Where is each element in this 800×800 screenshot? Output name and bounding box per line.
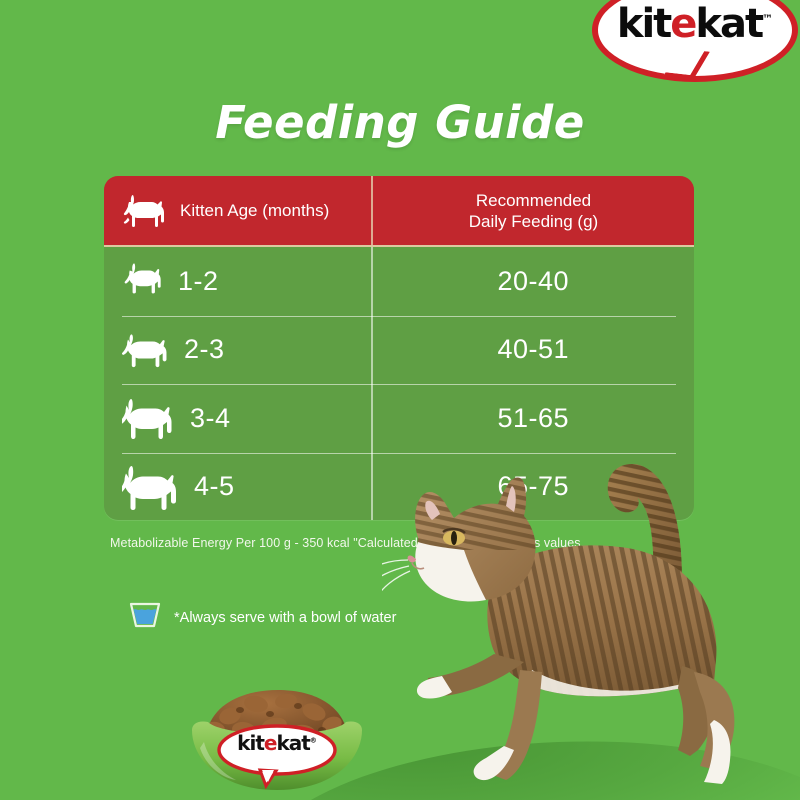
table-header-age-label: Kitten Age (months) (180, 201, 329, 221)
cat-icon (122, 194, 168, 228)
table-header-feeding-line1: Recommended (373, 190, 694, 211)
table-header-age-cell: Kitten Age (months) (104, 194, 371, 228)
water-bowl-icon (128, 600, 162, 635)
logo-text-accent: e (670, 1, 695, 47)
row-age-cell: 3-4 (104, 395, 371, 441)
walking-tabby-cat-photo (382, 420, 800, 790)
row-age-value: 4-5 (194, 471, 235, 502)
row-amount-value: 40-51 (373, 334, 695, 365)
logo-text-part1: kit (617, 1, 670, 47)
logo-wordmark: kitekat™ (592, 4, 798, 44)
row-age-cell: 1-2 (104, 261, 371, 301)
kitten-icon-xlarge (122, 462, 182, 512)
row-age-cell: 4-5 (104, 462, 371, 512)
row-age-value: 1-2 (178, 266, 219, 297)
row-amount-value: 20-40 (373, 266, 695, 297)
water-note-label: *Always serve with a bowl of water (174, 610, 396, 626)
table-header-feeding-cell: Recommended Daily Feeding (g) (373, 190, 694, 232)
feeding-guide-poster: kitekat™ Feeding Guide Kitten Age (month… (0, 0, 800, 800)
table-row: 1-2 20-40 (104, 247, 694, 316)
header-column-divider (371, 176, 373, 245)
table-row: 2-3 40-51 (104, 316, 694, 385)
table-header-feeding-line2: Daily Feeding (g) (373, 211, 694, 232)
kitekat-food-bowl-photo: kitekat® (186, 686, 368, 800)
table-header-row: Kitten Age (months) Recommended Daily Fe… (104, 176, 694, 247)
row-age-value: 2-3 (184, 334, 225, 365)
row-age-cell: 2-3 (104, 331, 371, 369)
kitekat-logo: kitekat™ (592, 0, 798, 82)
kitten-icon-medium (122, 331, 172, 369)
row-age-value: 3-4 (190, 403, 231, 434)
kitten-icon-small (122, 261, 166, 301)
water-note: *Always serve with a bowl of water (128, 600, 396, 635)
logo-trademark: ™ (762, 13, 773, 26)
page-title: Feeding Guide (0, 96, 800, 149)
logo-text-part2: kat (695, 1, 762, 47)
kitten-icon-large (122, 395, 178, 441)
